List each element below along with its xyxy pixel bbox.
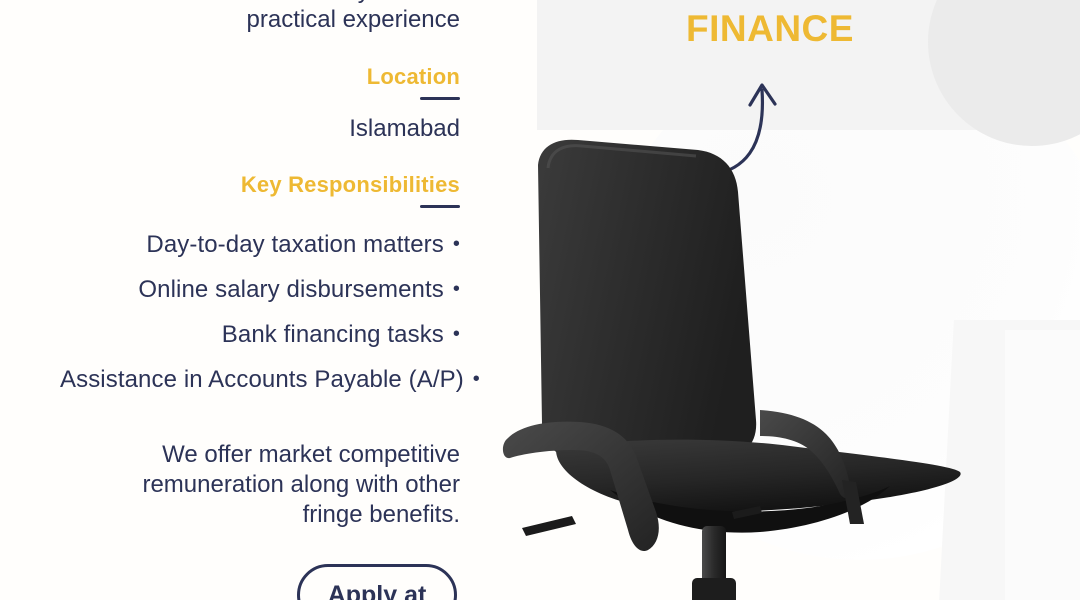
offer-line-2: remuneration along with other — [60, 470, 460, 500]
offer-line-1: We offer market competitive — [60, 440, 460, 470]
location-heading-rule — [420, 97, 460, 100]
office-chair-illustration — [460, 120, 1020, 600]
apply-button[interactable]: Apply at — [297, 564, 457, 600]
responsibilities-block: Key Responsibilities Day-to-day taxation… — [60, 172, 460, 394]
responsibilities-heading-rule — [420, 205, 460, 208]
offer-statement: We offer market competitive remuneration… — [60, 440, 460, 530]
chair-gas-cylinder — [702, 526, 726, 584]
responsibility-item: Assistance in Accounts Payable (A/P)• — [60, 365, 460, 394]
job-title-line-1: ASSISTANT MANAGER — [540, 0, 1000, 8]
responsibility-item-text: Assistance in Accounts Payable (A/P) — [60, 366, 464, 393]
responsibility-bullet-icon: • — [473, 365, 480, 394]
chair-backrest — [538, 140, 756, 458]
offer-line-3: fringe benefits. — [60, 500, 460, 530]
chair-base-hub — [692, 578, 736, 600]
responsibility-item-text: Bank financing tasks — [222, 321, 444, 348]
requirements-block: ACCA with at least 3 years of• practical… — [60, 0, 460, 34]
chair-height-lever — [522, 516, 576, 536]
apply-button-label: Apply at — [328, 581, 427, 600]
responsibility-item: Bank financing tasks• — [60, 320, 460, 349]
responsibility-bullet-icon: • — [453, 320, 460, 349]
job-posting-poster: ASSISTANT MANAGER FINANCE — [0, 0, 1080, 600]
responsibility-bullet-icon: • — [453, 275, 460, 304]
location-block: Location Islamabad — [60, 64, 460, 144]
responsibility-item: Day-to-day taxation matters• — [60, 230, 460, 259]
responsibility-item-text: Online salary disbursements — [138, 276, 444, 303]
responsibility-item: Online salary disbursements• — [60, 275, 460, 304]
job-title: ASSISTANT MANAGER FINANCE — [540, 0, 1000, 50]
job-title-line-2: FINANCE — [540, 8, 1000, 50]
location-value: Islamabad — [60, 114, 460, 144]
requirement-line-2: practical experience — [60, 5, 460, 34]
requirement-line-1-text: ACCA with at least 3 years of — [130, 0, 444, 4]
responsibility-bullet-icon: • — [453, 230, 460, 259]
responsibilities-heading: Key Responsibilities — [60, 172, 460, 198]
responsibility-item-text: Day-to-day taxation matters — [146, 231, 444, 258]
location-heading: Location — [60, 64, 460, 90]
